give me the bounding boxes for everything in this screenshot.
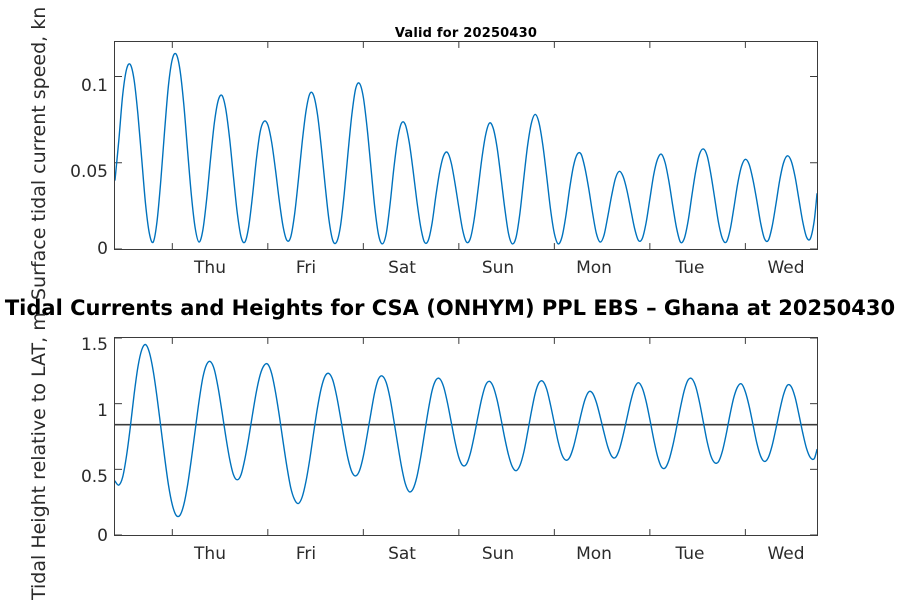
x-tick-label-sat-bottom: Sat xyxy=(362,544,442,564)
x-tick-label-sat-top: Sat xyxy=(362,258,442,278)
x-tick-label-fri-top: Fri xyxy=(266,258,346,278)
plot-area-current-speed xyxy=(114,41,818,250)
figure-main-title: Tidal Currents and Heights for CSA (ONHY… xyxy=(0,296,900,320)
y-axis-label-bottom: Tidal Height relative to LAT, m xyxy=(28,312,50,600)
y-tick-label-top: 0.1 xyxy=(62,78,108,95)
x-tick-label-fri-bottom: Fri xyxy=(266,544,346,564)
x-tick-label-mon-bottom: Mon xyxy=(554,544,634,564)
y-tick-label-bottom: 0.5 xyxy=(62,469,108,486)
x-tick-label-sun-bottom: Sun xyxy=(458,544,538,564)
plot-area-tidal-height xyxy=(114,337,818,536)
x-tick-label-sun-top: Sun xyxy=(458,258,538,278)
x-tick-label-mon-top: Mon xyxy=(554,258,634,278)
y-tick-label-bottom: 0 xyxy=(62,528,108,545)
x-tick-label-tue-bottom: Tue xyxy=(650,544,730,564)
x-tick-label-wed-bottom: Wed xyxy=(746,544,826,564)
x-tick-label-thu-top: Thu xyxy=(170,258,250,278)
subplot-top-title: Valid for 20250430 xyxy=(114,26,818,41)
x-tick-label-thu-bottom: Thu xyxy=(170,544,250,564)
tidal-figure: Valid for 20250430 Surface tidal current… xyxy=(0,0,900,600)
y-tick-label-bottom: 1 xyxy=(62,403,108,420)
y-axis-label-top: Surface tidal current speed, kn xyxy=(28,7,50,300)
y-tick-label-bottom: 1.5 xyxy=(62,337,108,354)
current-speed-line-chart xyxy=(115,42,817,249)
x-tick-label-wed-top: Wed xyxy=(746,258,826,278)
y-tick-label-top: 0.05 xyxy=(62,164,108,181)
tidal-height-line-chart xyxy=(115,338,817,535)
y-tick-label-top: 0 xyxy=(62,241,108,258)
x-tick-label-tue-top: Tue xyxy=(650,258,730,278)
